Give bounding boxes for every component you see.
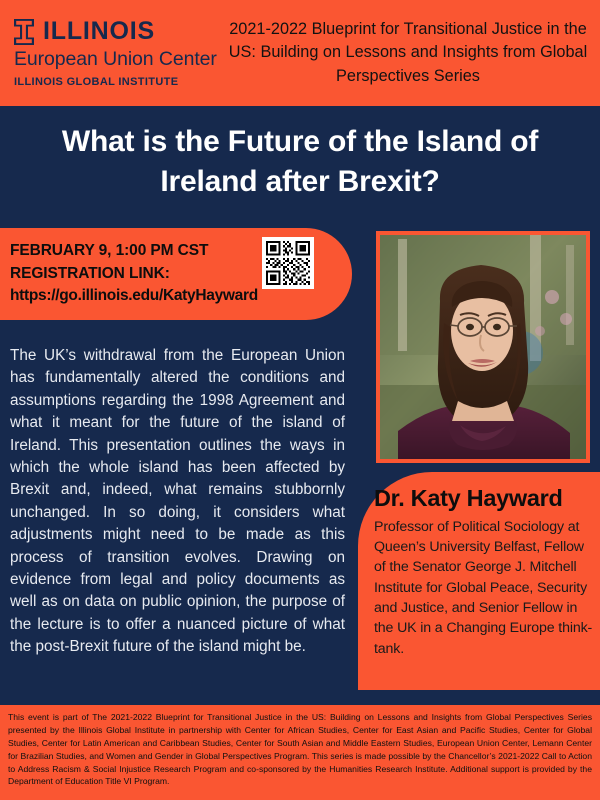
registration-label: REGISTRATION LINK: bbox=[10, 263, 258, 286]
speaker-name: Dr. Katy Hayward bbox=[374, 486, 594, 512]
headline-band: What is the Future of the Island of Irel… bbox=[0, 106, 600, 218]
abstract-text: The UK’s withdrawal from the European Un… bbox=[10, 345, 345, 659]
institute-name: ILLINOIS GLOBAL INSTITUTE bbox=[14, 76, 222, 88]
event-datetime: FEBRUARY 9, 1:00 PM CST bbox=[10, 240, 258, 263]
poster-header: ILLINOIS European Union Center ILLINOIS … bbox=[0, 0, 600, 106]
poster-footer: This event is part of The 2021-2022 Blue… bbox=[0, 705, 600, 800]
qr-code-icon[interactable] bbox=[262, 237, 314, 289]
registration-text: FEBRUARY 9, 1:00 PM CST REGISTRATION LIN… bbox=[10, 240, 258, 309]
speaker-panel: Dr. Katy Hayward Professor of Political … bbox=[358, 472, 600, 690]
registration-block: FEBRUARY 9, 1:00 PM CST REGISTRATION LIN… bbox=[0, 228, 352, 320]
speaker-portrait-photo bbox=[376, 231, 590, 463]
brand-lockup: ILLINOIS European Union Center ILLINOIS … bbox=[0, 19, 222, 88]
event-title: What is the Future of the Island of Irel… bbox=[0, 122, 600, 202]
footer-credits: This event is part of The 2021-2022 Blue… bbox=[8, 711, 592, 788]
speaker-bio: Professor of Political Sociology at Quee… bbox=[374, 517, 594, 659]
registration-link[interactable]: https://go.illinois.edu/KatyHayward bbox=[10, 285, 258, 308]
brand-row: ILLINOIS bbox=[14, 19, 222, 45]
series-title: 2021-2022 Blueprint for Transitional Jus… bbox=[222, 18, 600, 87]
unit-name: European Union Center bbox=[14, 48, 222, 71]
block-i-logo-icon bbox=[14, 19, 34, 45]
illinois-wordmark: ILLINOIS bbox=[43, 19, 155, 44]
